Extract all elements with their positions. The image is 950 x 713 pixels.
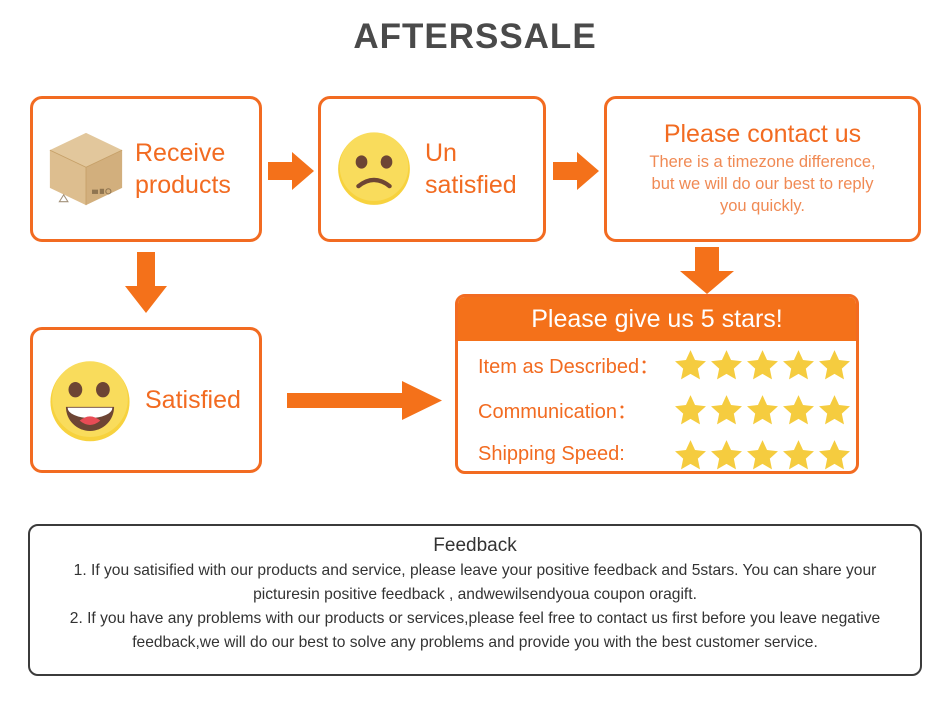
- arrow-right-long-icon: [287, 381, 442, 420]
- star-group-shipping-speed[interactable]: [674, 438, 851, 471]
- step-contact-us: Please contact us There is a timezone di…: [604, 96, 921, 242]
- rating-row: Item as Described：: [458, 343, 856, 386]
- star-icon[interactable]: [818, 438, 851, 471]
- arrow-down-icon: [679, 247, 735, 295]
- arrow-right-icon: [553, 150, 599, 192]
- step-receive-line1: Receive: [135, 137, 231, 169]
- star-icon[interactable]: [674, 348, 707, 381]
- step-receive-line2: products: [135, 169, 231, 201]
- star-icon[interactable]: [818, 348, 851, 381]
- star-icon[interactable]: [674, 393, 707, 426]
- rating-label-item-as-described: Item as Described：: [478, 350, 674, 379]
- ratings-panel: Please give us 5 stars! Item as Describe…: [455, 294, 859, 474]
- step-unsatisfied-line2: satisfied: [425, 169, 517, 201]
- star-icon[interactable]: [782, 348, 815, 381]
- contact-body-line1: There is a timezone difference,: [649, 152, 875, 174]
- star-icon[interactable]: [710, 393, 743, 426]
- contact-body-line3: you quickly.: [649, 196, 875, 218]
- contact-headline: Please contact us: [664, 120, 861, 149]
- step-unsatisfied-label: Un satisfied: [425, 137, 517, 201]
- contact-body-line2: but we will do our best to reply: [649, 174, 875, 196]
- rating-label-communication: Communication：: [478, 395, 674, 424]
- arrow-down-icon: [124, 252, 168, 314]
- step-unsatisfied: Un satisfied: [318, 96, 546, 242]
- step-unsatisfied-line1: Un: [425, 137, 517, 169]
- frowning-face-icon: [335, 130, 413, 208]
- feedback-panel: Feedback 1. If you satisified with our p…: [28, 524, 922, 676]
- step-receive-products: Receive products: [30, 96, 262, 242]
- grinning-face-icon: [47, 357, 133, 443]
- star-icon[interactable]: [782, 393, 815, 426]
- step-satisfied: Satisfied: [30, 327, 262, 473]
- feedback-title: Feedback: [48, 535, 902, 557]
- star-group-item-as-described[interactable]: [674, 348, 851, 381]
- cardboard-box-icon: [43, 126, 129, 212]
- step-satisfied-label: Satisfied: [145, 386, 241, 415]
- page-title: AFTERSSALE: [0, 17, 950, 57]
- star-icon[interactable]: [818, 393, 851, 426]
- contact-body: There is a timezone difference, but we w…: [649, 152, 875, 217]
- step-receive-label: Receive products: [135, 137, 231, 201]
- rating-label-shipping-speed: Shipping Speed:: [478, 443, 674, 466]
- star-icon[interactable]: [746, 393, 779, 426]
- star-icon[interactable]: [746, 438, 779, 471]
- star-group-communication[interactable]: [674, 393, 851, 426]
- rating-row: Communication：: [458, 388, 856, 431]
- afterssale-infographic: AFTERSSALE Receive products: [0, 0, 950, 713]
- feedback-item-2: 2. If you have any problems with our pro…: [48, 607, 902, 655]
- feedback-item-1: 1. If you satisified with our products a…: [48, 559, 902, 607]
- ratings-header: Please give us 5 stars!: [458, 297, 856, 341]
- star-icon[interactable]: [674, 438, 707, 471]
- star-icon[interactable]: [746, 348, 779, 381]
- star-icon[interactable]: [710, 348, 743, 381]
- rating-row: Shipping Speed:: [458, 433, 856, 474]
- star-icon[interactable]: [782, 438, 815, 471]
- arrow-right-icon: [268, 150, 314, 192]
- star-icon[interactable]: [710, 438, 743, 471]
